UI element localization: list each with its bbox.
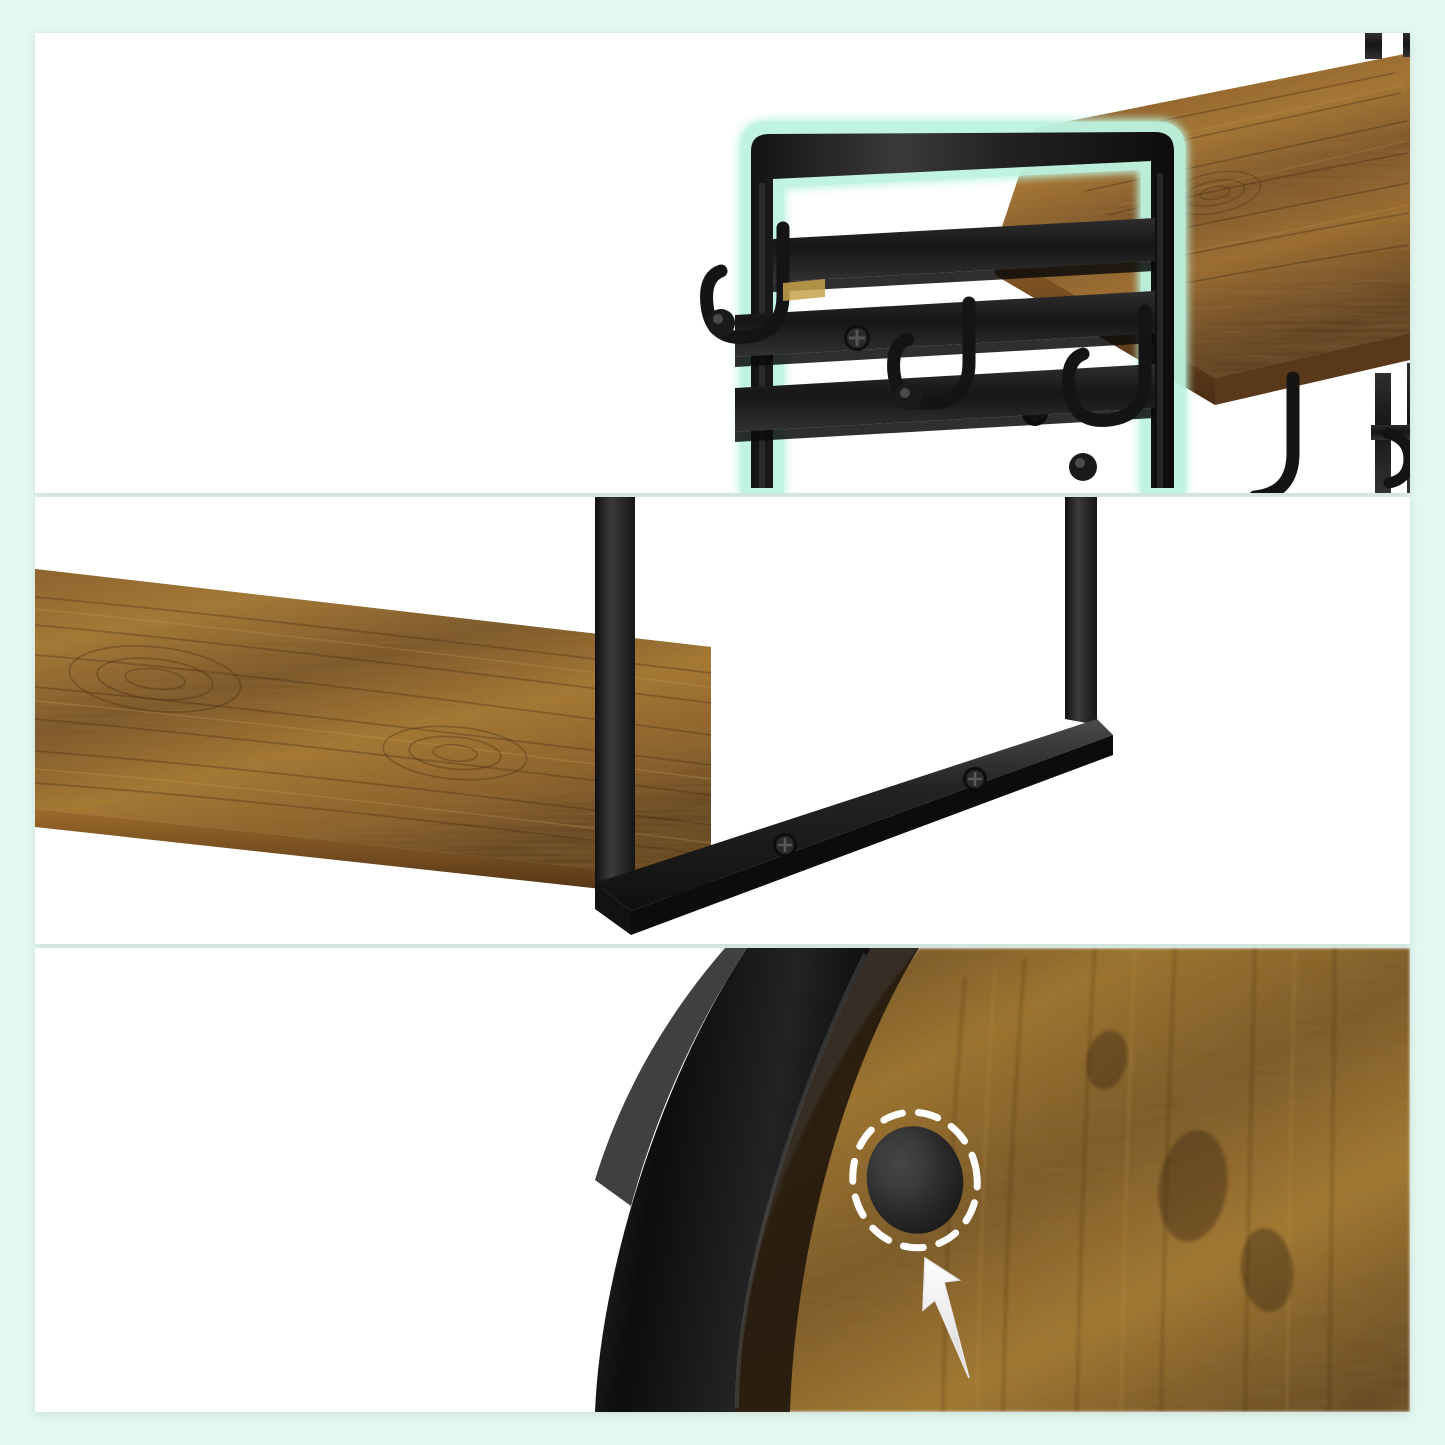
- feature-copy-portable-handle: Portable Handle User-friendly design enh…: [125, 183, 595, 386]
- screw: [773, 833, 797, 857]
- panel-title: Portable Handle: [125, 183, 595, 239]
- screw: [963, 767, 987, 791]
- product-photo-anti-skid-pads: [35, 948, 1410, 1412]
- hook-rail: [735, 218, 1155, 442]
- product-photo-build-to-last: [35, 497, 1410, 944]
- screw: [844, 325, 870, 351]
- panel-body: User-friendly design enhancing the flexi…: [125, 255, 595, 387]
- feature-panel-anti-skid-pads: Anti-Skid Pads Ensuring stability and pr…: [35, 948, 1410, 1412]
- feature-panel-portable-handle: Portable Handle User-friendly design enh…: [35, 33, 1410, 493]
- infographic-canvas: Portable Handle User-friendly design enh…: [0, 0, 1445, 1445]
- feature-panel-build-to-last: Build To Last Premium wood metal withsta…: [35, 497, 1410, 944]
